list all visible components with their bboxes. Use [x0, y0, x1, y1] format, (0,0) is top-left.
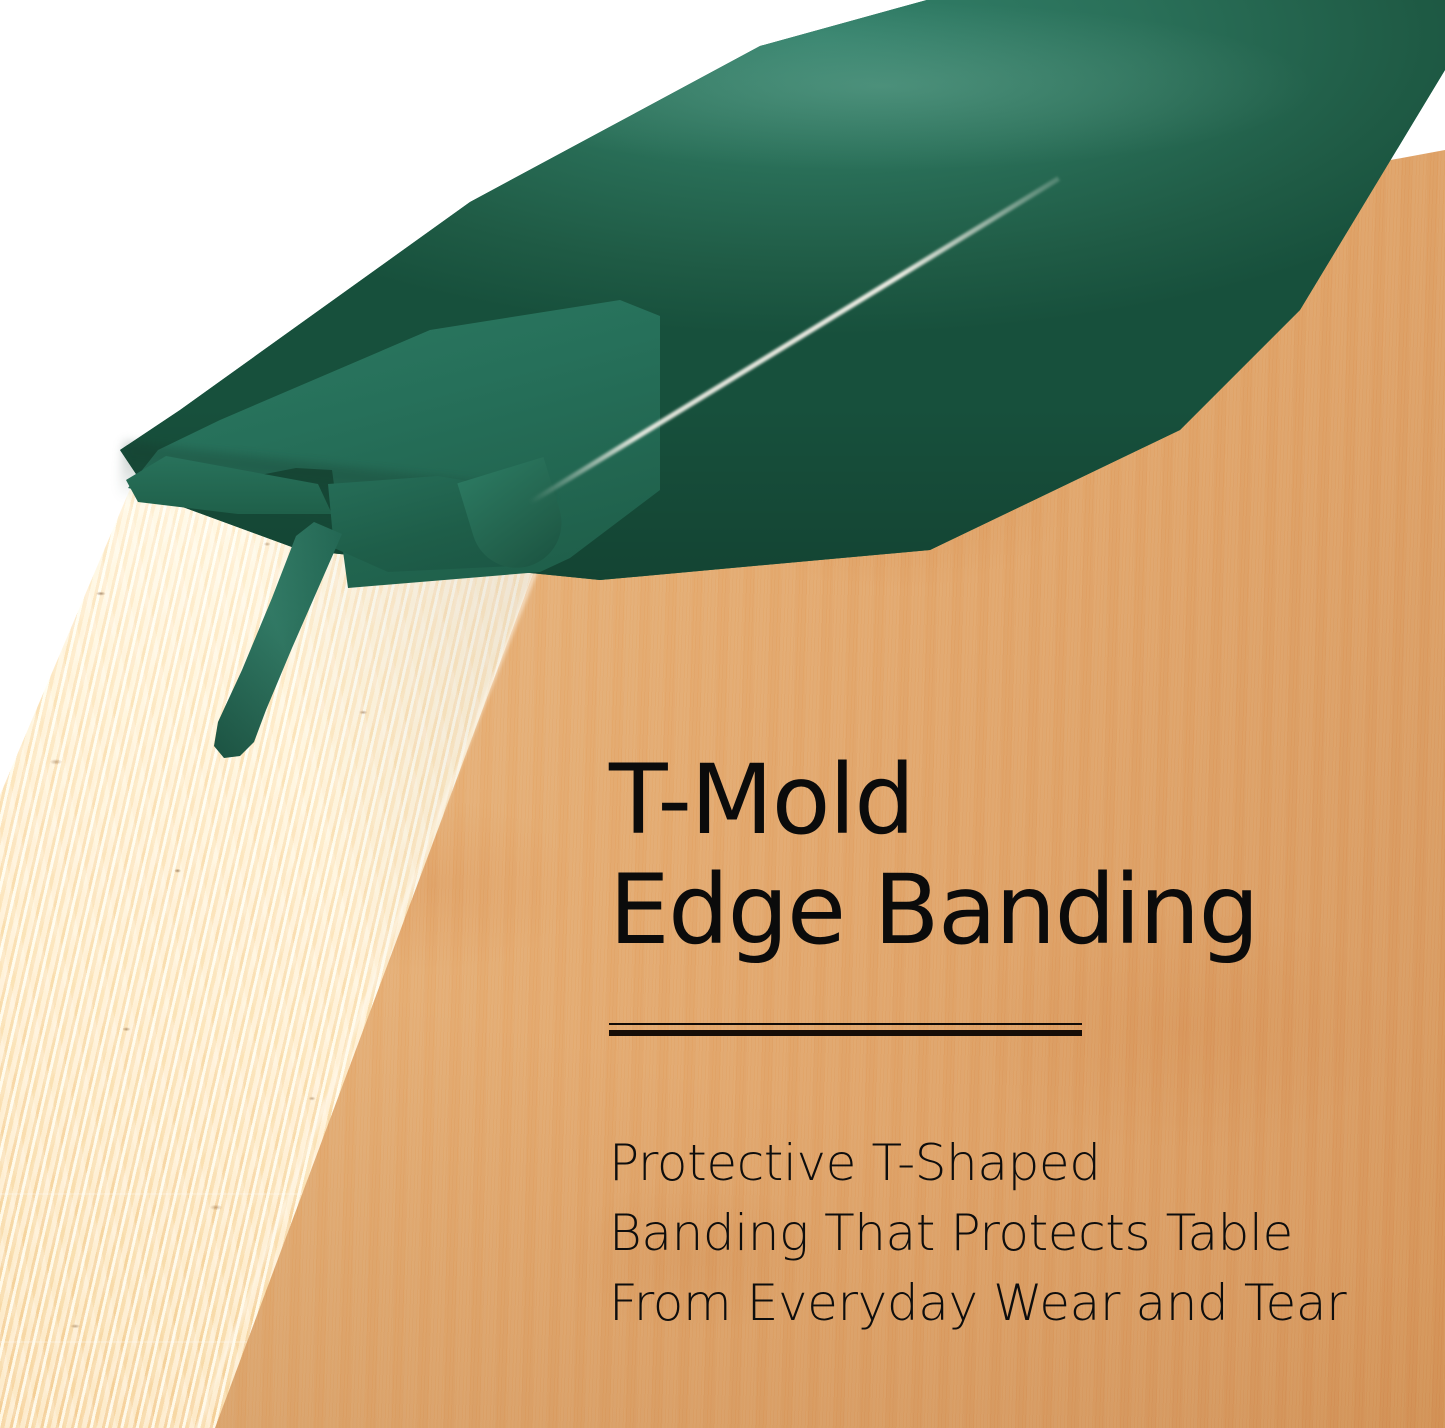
product-feature-image: T-Mold Edge Banding Protective T-Shaped …: [0, 0, 1445, 1428]
divider-rule-thick: [609, 1030, 1082, 1036]
callout-subtitle: Protective T-Shaped Banding That Protect…: [609, 1128, 1399, 1338]
callout-text-block: T-Mold Edge Banding: [609, 745, 1369, 965]
callout-title: T-Mold Edge Banding: [609, 745, 1369, 965]
divider-rule-thin: [609, 1023, 1082, 1025]
callout-divider: [609, 1023, 1082, 1037]
